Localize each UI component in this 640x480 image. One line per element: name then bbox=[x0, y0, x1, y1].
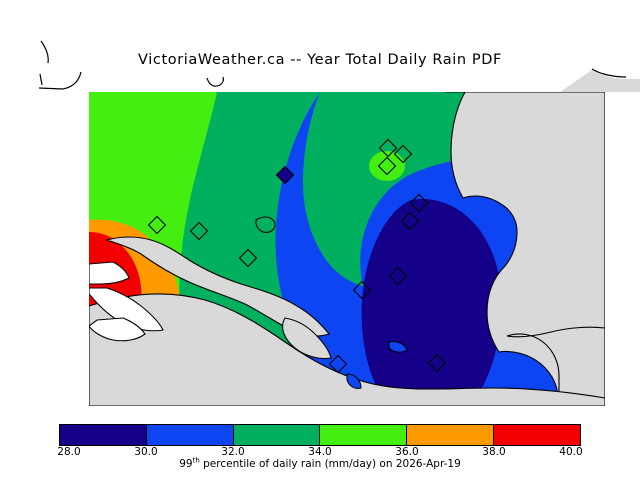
coast-fragment-c bbox=[39, 72, 81, 89]
coast-fragment-b bbox=[40, 74, 42, 85]
colorbar-segment-2[interactable] bbox=[147, 425, 234, 445]
colorbar-tick-34.0: 34.0 bbox=[308, 446, 331, 458]
contour-map-svg bbox=[89, 92, 605, 406]
caption-suffix: percentile of daily rain (mm/day) on 202… bbox=[200, 458, 461, 470]
page-title: VictoriaWeather.ca -- Year Total Daily R… bbox=[0, 52, 640, 68]
colorbar-segment-1[interactable] bbox=[60, 425, 147, 445]
colorbar-segment-5[interactable] bbox=[407, 425, 494, 445]
colorbar-segment-4[interactable] bbox=[320, 425, 407, 445]
weather-map-page: VictoriaWeather.ca -- Year Total Daily R… bbox=[0, 0, 640, 480]
caption-prefix: 99 bbox=[179, 458, 192, 470]
colorbar-tick-40.0: 40.0 bbox=[559, 446, 582, 458]
colorbar-tick-28.0: 28.0 bbox=[57, 446, 80, 458]
colorbar-tick-32.0: 32.0 bbox=[221, 446, 244, 458]
map-plot-area[interactable] bbox=[89, 92, 605, 406]
colorbar-tick-30.0: 30.0 bbox=[134, 446, 157, 458]
caption-ordinal: th bbox=[193, 457, 200, 465]
colorbar-tick-38.0: 38.0 bbox=[482, 446, 505, 458]
colorbar[interactable] bbox=[59, 424, 581, 446]
colorbar-segment-6[interactable] bbox=[494, 425, 580, 445]
colorbar-tick-36.0: 36.0 bbox=[395, 446, 418, 458]
coast-fragment-d bbox=[207, 77, 223, 86]
coast-fragment-e bbox=[592, 69, 626, 77]
colorbar-caption: 99th percentile of daily rain (mm/day) o… bbox=[0, 458, 640, 470]
colorbar-segments[interactable] bbox=[59, 424, 581, 446]
colorbar-segment-3[interactable] bbox=[234, 425, 321, 445]
coast-fragment-fill-e bbox=[560, 70, 640, 92]
